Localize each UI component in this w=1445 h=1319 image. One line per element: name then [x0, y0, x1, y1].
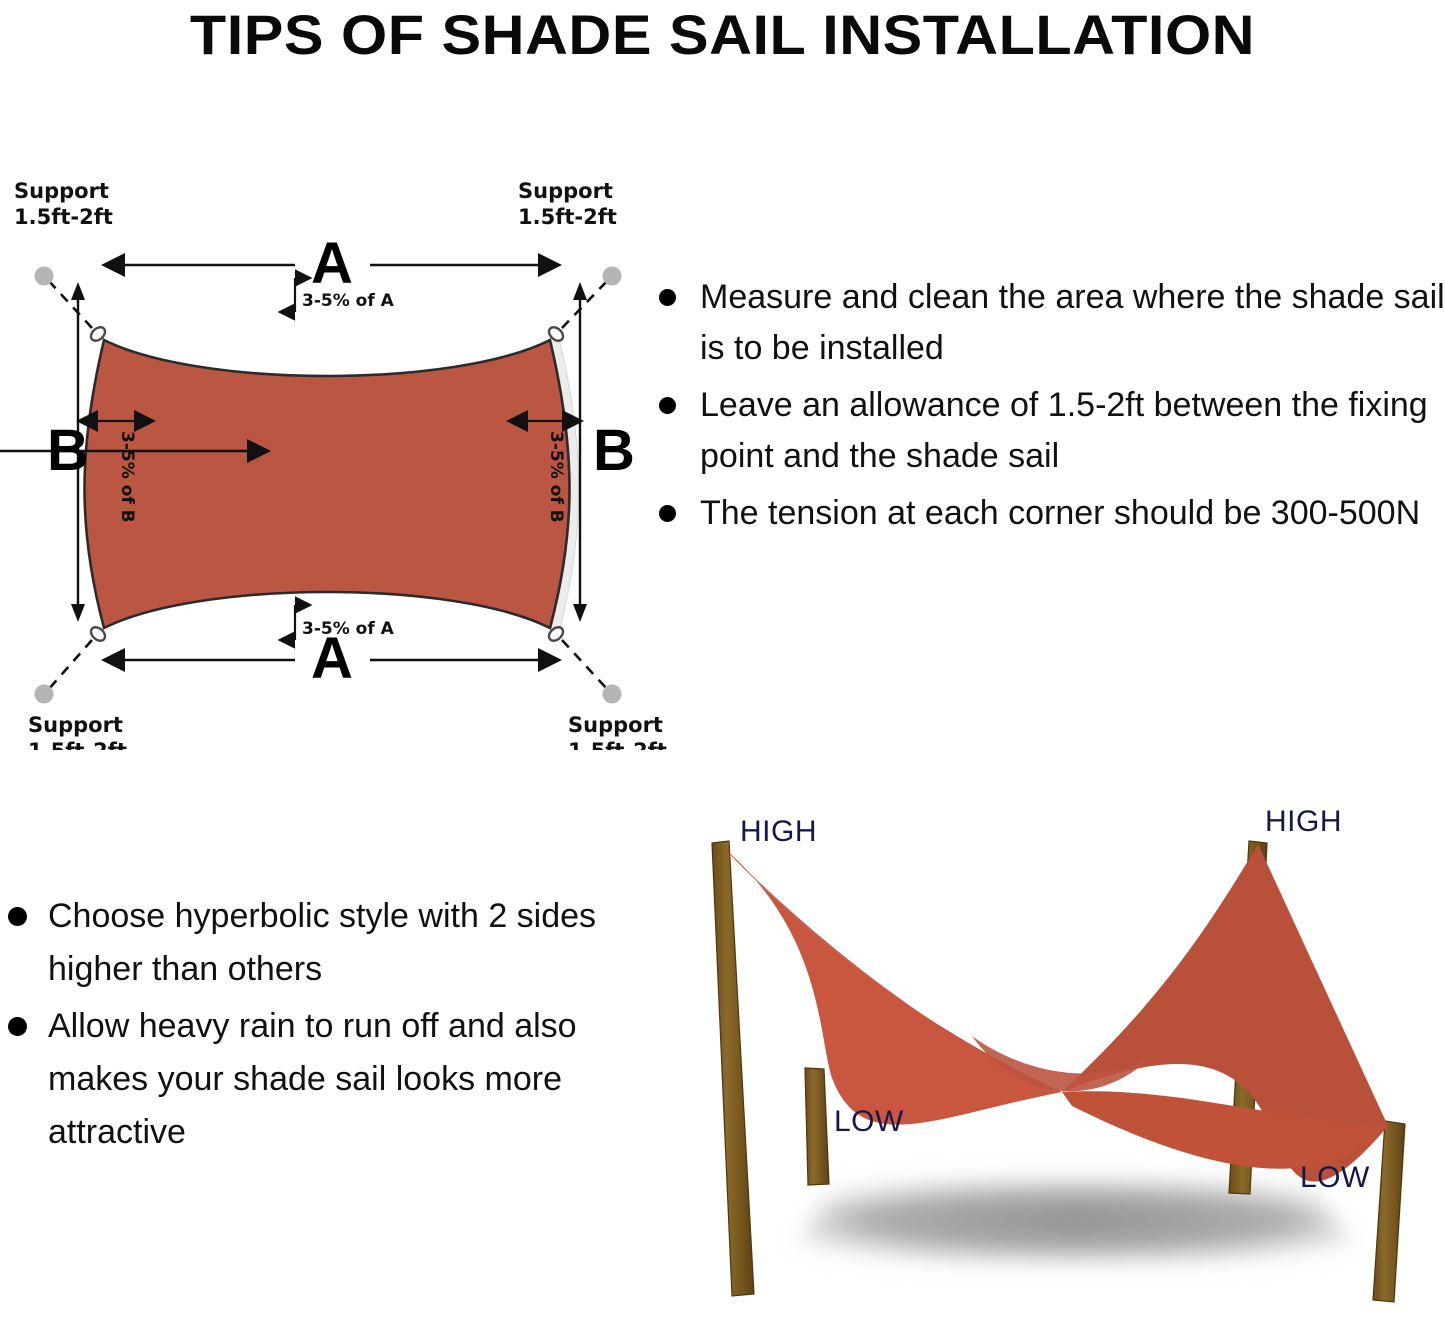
support-label-bottom-right-line1: Support [568, 713, 663, 737]
rectangular-sail-diagram: A 3-5% of A A 3-5% of A [0, 150, 680, 750]
installation-tips-list: Measure and clean the area where the sha… [648, 272, 1445, 545]
post-label-front-left-low: LOW [834, 1105, 904, 1138]
tip-text: Leave an allowance of 1.5-2ft between th… [700, 386, 1428, 475]
shade-sail-shape [85, 340, 570, 628]
support-label-top-left-line2: 1.5ft-2ft [14, 205, 113, 229]
dimension-label-b-right: B [593, 418, 635, 483]
sail-lobe-left [724, 848, 1062, 1125]
post-label-front-right-low: LOW [1300, 1161, 1370, 1194]
curvature-label-a-top: 3-5% of A [302, 291, 395, 311]
post-front-left-low [805, 1068, 829, 1185]
support-dot-bottom-right [603, 685, 622, 704]
curvature-label-b-right: 3-5% of B [546, 431, 566, 523]
bullet-dot-icon [8, 1017, 27, 1036]
tip-text: Measure and clean the area where the sha… [700, 278, 1445, 367]
post-front-right-low [1373, 1121, 1405, 1302]
dimension-b-right: B [573, 282, 635, 622]
ground-shadow [780, 1180, 1372, 1262]
support-label-bottom-left-line1: Support [28, 713, 123, 737]
post-label-back-right-high: HIGH [1265, 805, 1342, 838]
support-label-top-right-line2: 1.5ft-2ft [518, 205, 617, 229]
support-label-bottom-right-line2: 1.5ft-2ft [568, 739, 667, 750]
support-dot-top-left [35, 267, 54, 286]
curvature-a-bottom: 3-5% of A [295, 605, 395, 640]
list-item: The tension at each corner should be 300… [648, 488, 1445, 539]
dimension-a-top: A [125, 231, 538, 296]
support-label-top-left-line1: Support [14, 179, 109, 203]
post-label-back-left-high: HIGH [740, 815, 817, 848]
bullet-dot-icon [659, 289, 676, 306]
post-back-left-high [712, 841, 754, 1296]
bullet-dot-icon [659, 505, 676, 522]
bullet-dot-icon [659, 397, 676, 414]
hyperbolic-tips-list: Choose hyperbolic style with 2 sides hig… [0, 890, 630, 1163]
support-dot-bottom-left [35, 685, 54, 704]
curvature-label-b-left: 3-5% of B [117, 431, 137, 523]
bullet-dot-icon [8, 907, 27, 926]
list-item: Allow heavy rain to run off and also mak… [0, 1000, 630, 1159]
support-label-top-right-line1: Support [518, 179, 613, 203]
list-item: Measure and clean the area where the sha… [648, 272, 1445, 374]
dimension-label-a-top: A [311, 231, 353, 296]
curvature-label-a-bottom: 3-5% of A [302, 619, 395, 639]
tip-text: The tension at each corner should be 300… [700, 494, 1420, 532]
infographic-page: TIPS OF SHADE SAIL INSTALLATION [0, 0, 1445, 1319]
page-title: TIPS OF SHADE SAIL INSTALLATION [0, 2, 1445, 67]
tip-text: Allow heavy rain to run off and also mak… [48, 1007, 577, 1151]
dimension-label-b-left: B [47, 418, 89, 483]
support-label-bottom-left-line2: 1.5ft-2ft [28, 739, 127, 750]
hyperbolic-sail-diagram: HIGH HIGH LOW LOW [672, 786, 1445, 1319]
list-item: Choose hyperbolic style with 2 sides hig… [0, 890, 630, 996]
list-item: Leave an allowance of 1.5-2ft between th… [648, 380, 1445, 482]
support-dot-top-right [603, 267, 622, 286]
tip-text: Choose hyperbolic style with 2 sides hig… [48, 897, 596, 988]
